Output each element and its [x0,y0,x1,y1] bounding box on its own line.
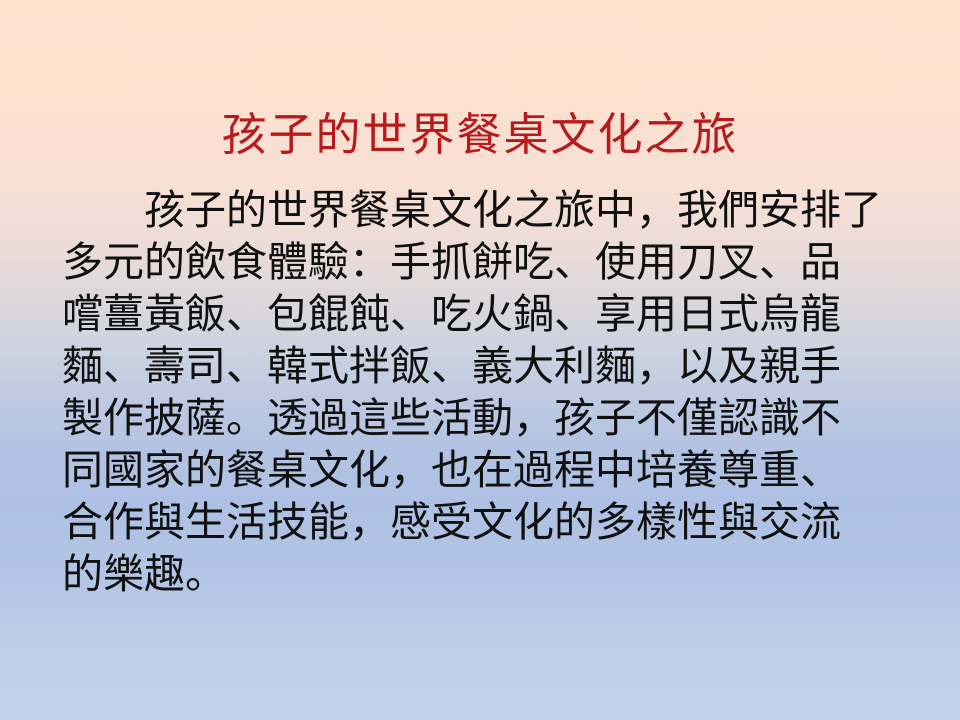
body-line: 麵、壽司、韓式拌飯、義大利麵，以及親手 [62,340,898,392]
presentation-slide: 孩子的世界餐桌文化之旅 孩子的世界餐桌文化之旅中，我們安排了 多元的飲食體驗：手… [0,0,960,720]
slide-body-text: 孩子的世界餐桌文化之旅中，我們安排了 多元的飲食體驗：手抓餅吃、使用刀叉、品 嚐… [62,184,898,600]
body-line: 孩子的世界餐桌文化之旅中，我們安排了 [62,184,898,236]
body-line: 的樂趣。 [62,548,898,600]
body-line: 同國家的餐桌文化，也在過程中培養尊重、 [62,444,898,496]
body-line: 多元的飲食體驗：手抓餅吃、使用刀叉、品 [62,236,898,288]
body-line: 合作與生活技能，感受文化的多樣性與交流 [62,496,898,548]
body-line: 嚐薑黃飯、包餛飩、吃火鍋、享用日式烏龍 [62,288,898,340]
body-line: 製作披薩。透過這些活動，孩子不僅認識不 [62,392,898,444]
slide-title: 孩子的世界餐桌文化之旅 [0,106,960,164]
